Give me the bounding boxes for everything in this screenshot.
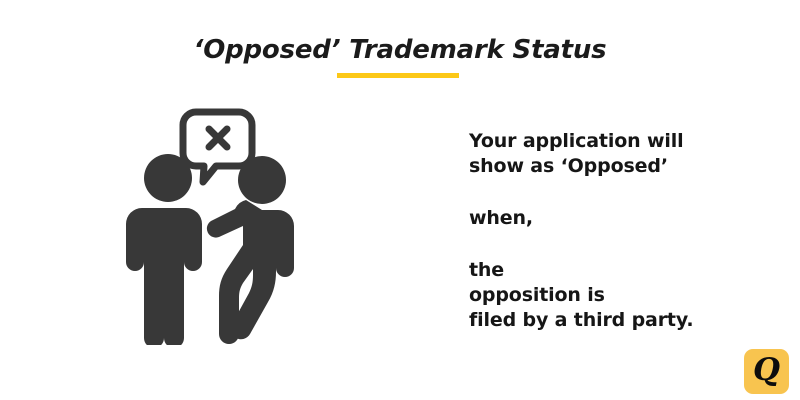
body-line: show as ‘Opposed’ bbox=[469, 154, 759, 179]
paragraph-spacer bbox=[469, 179, 759, 206]
page-title-block: ‘Opposed’ Trademark Status bbox=[0, 34, 800, 66]
title-underline-accent bbox=[337, 73, 459, 78]
body-paragraph-1: Your application will show as ‘Opposed’ bbox=[469, 129, 759, 179]
body-line: opposition is bbox=[469, 283, 759, 308]
body-line: the bbox=[469, 258, 759, 283]
page-title: ‘Opposed’ Trademark Status bbox=[194, 34, 607, 66]
two-people-dispute-illustration bbox=[110, 100, 325, 345]
brand-logo-letter: Q bbox=[753, 355, 780, 386]
brand-logo-badge[interactable]: Q bbox=[744, 349, 789, 394]
slide-canvas: ‘Opposed’ Trademark Status bbox=[0, 0, 800, 400]
x-mark bbox=[209, 129, 227, 147]
person-standing-left bbox=[126, 154, 202, 345]
body-line: Your application will bbox=[469, 129, 759, 154]
body-paragraph-3: the opposition is filed by a third party… bbox=[469, 258, 759, 333]
person-walking-right bbox=[207, 156, 294, 344]
paragraph-spacer bbox=[469, 231, 759, 258]
body-line: filed by a third party. bbox=[469, 308, 759, 333]
body-line: when, bbox=[469, 206, 759, 231]
body-paragraph-2: when, bbox=[469, 206, 759, 231]
body-copy-block: Your application will show as ‘Opposed’ … bbox=[469, 129, 759, 333]
